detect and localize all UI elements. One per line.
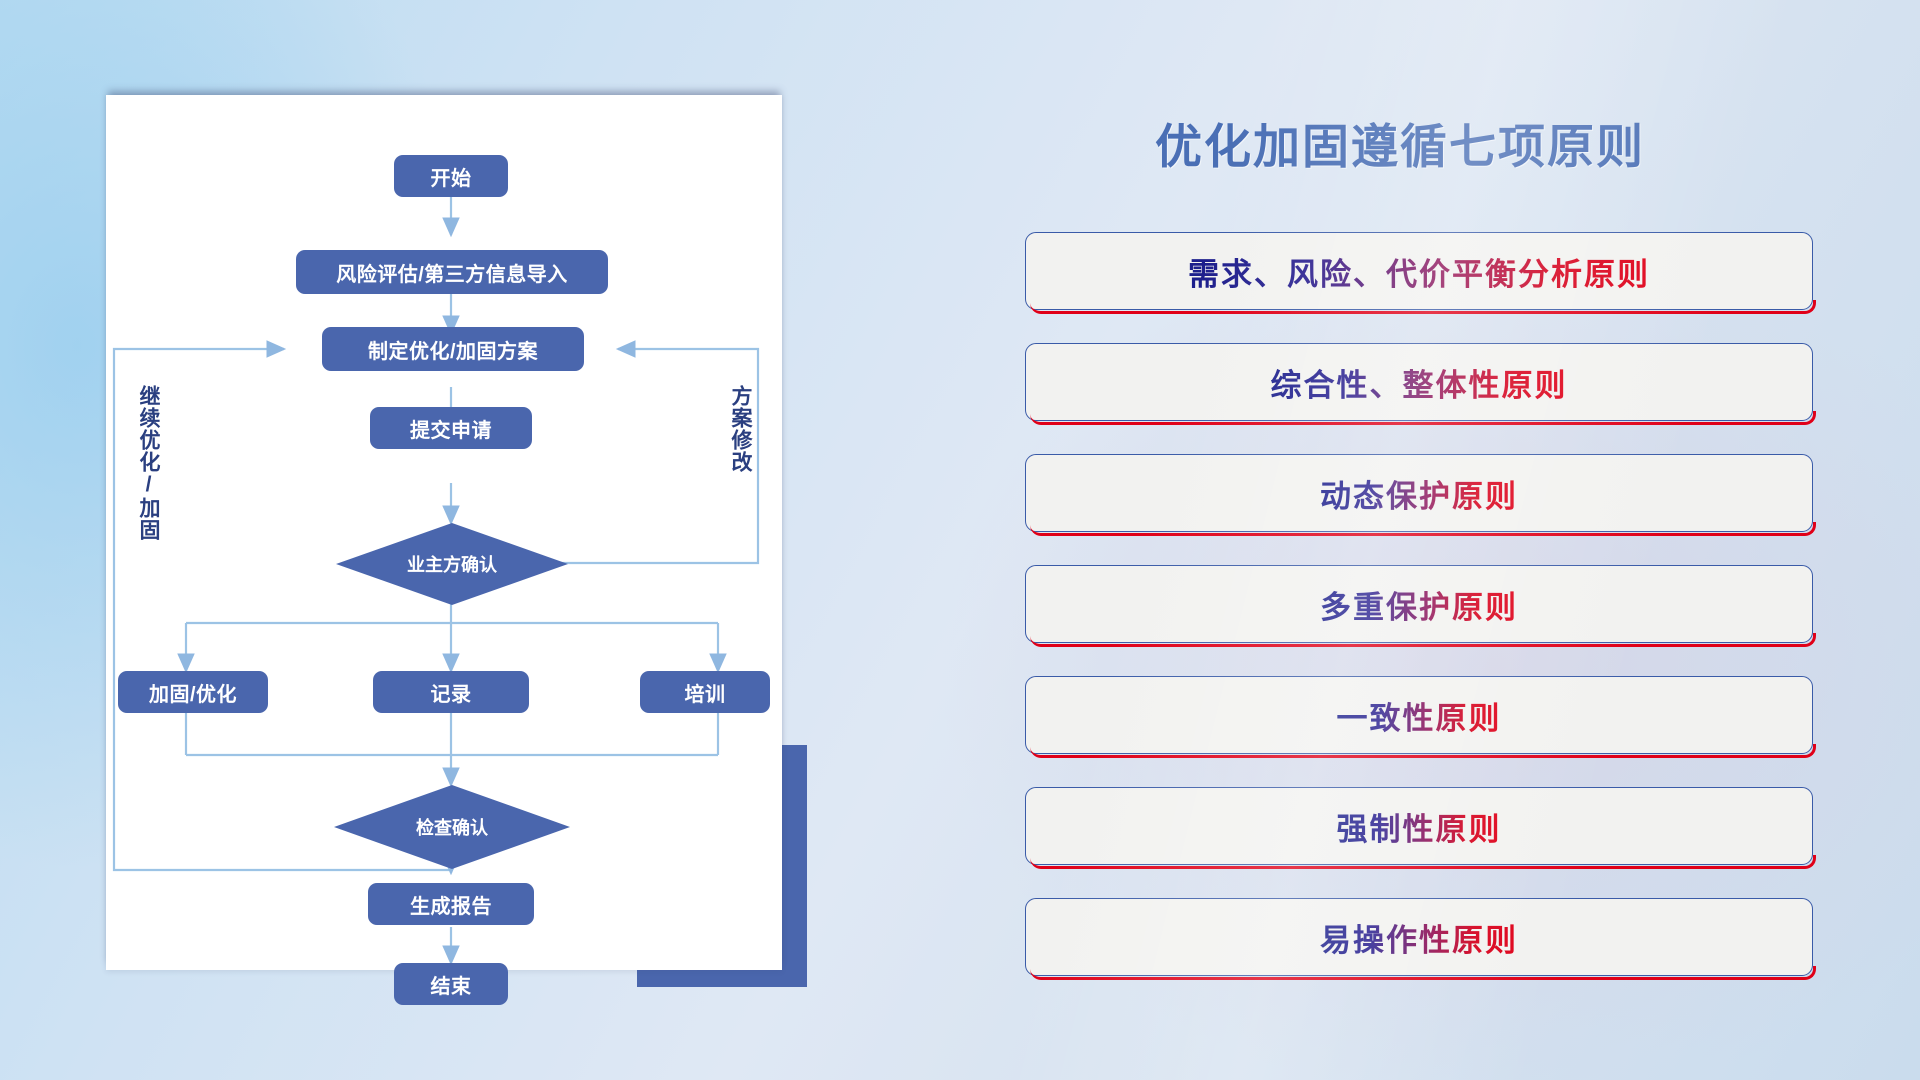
flow-node-report[interactable]: 生成报告 [368, 883, 534, 925]
flow-node-reinforce[interactable]: 加固/优化 [118, 671, 268, 713]
flowchart-card: 开始 风险评估/第三方信息导入 制定优化/加固方案 提交申请 业主方确认 加固/… [106, 95, 782, 970]
principle-label: 动态保护原则 [1320, 471, 1518, 516]
principle-item[interactable]: 动态保护原则 [1025, 454, 1813, 532]
slide-canvas: 开始 风险评估/第三方信息导入 制定优化/加固方案 提交申请 业主方确认 加固/… [0, 0, 1920, 1080]
flow-node-start[interactable]: 开始 [394, 155, 508, 197]
principle-label: 需求、风险、代价平衡分析原则 [1188, 249, 1650, 294]
principle-item[interactable]: 需求、风险、代价平衡分析原则 [1025, 232, 1813, 310]
principle-item[interactable]: 易操作性原则 [1025, 898, 1813, 976]
principle-label: 综合性、整体性原则 [1271, 360, 1568, 405]
flow-node-end[interactable]: 结束 [394, 963, 508, 1005]
flow-node-label: 结束 [431, 970, 472, 999]
principle-item[interactable]: 多重保护原则 [1025, 565, 1813, 643]
flow-node-label: 记录 [431, 678, 472, 707]
flow-node-label: 开始 [431, 162, 472, 191]
principle-label: 强制性原则 [1337, 804, 1502, 849]
page-title: 优化加固遵循七项原则 [1155, 108, 1835, 177]
flow-node-submit[interactable]: 提交申请 [370, 407, 532, 449]
principle-label: 易操作性原则 [1320, 915, 1518, 960]
flow-node-label: 加固/优化 [149, 678, 237, 707]
flow-node-training[interactable]: 培训 [640, 671, 770, 713]
flow-edge-label-plan-revision: 方案修改 [730, 385, 751, 473]
principle-item[interactable]: 强制性原则 [1025, 787, 1813, 865]
principle-item[interactable]: 一致性原则 [1025, 676, 1813, 754]
principle-list: 需求、风险、代价平衡分析原则 综合性、整体性原则 动态保护原则 多重保护原则 一… [1025, 232, 1813, 1009]
flow-node-label: 提交申请 [410, 414, 492, 443]
principle-label: 一致性原则 [1337, 693, 1502, 738]
flow-edge-label-continue-optimize: 继续优化/加固 [138, 385, 159, 541]
flow-node-record[interactable]: 记录 [373, 671, 529, 713]
flow-node-label: 业主方确认 [407, 551, 497, 577]
flow-node-label: 生成报告 [410, 890, 492, 919]
flow-node-plan[interactable]: 制定优化/加固方案 [322, 327, 584, 371]
flow-node-risk-assessment[interactable]: 风险评估/第三方信息导入 [296, 250, 608, 294]
flow-node-label: 培训 [685, 678, 726, 707]
principle-item[interactable]: 综合性、整体性原则 [1025, 343, 1813, 421]
flowchart: 开始 风险评估/第三方信息导入 制定优化/加固方案 提交申请 业主方确认 加固/… [106, 95, 782, 970]
flow-node-label: 制定优化/加固方案 [368, 335, 538, 364]
flow-node-label: 风险评估/第三方信息导入 [336, 258, 568, 287]
flow-node-label: 检查确认 [416, 814, 488, 840]
principle-label: 多重保护原则 [1320, 582, 1518, 627]
